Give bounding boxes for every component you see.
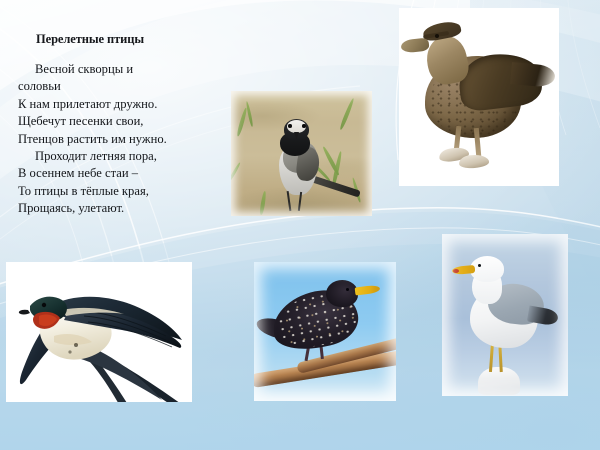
poem-line: Весной скворцы и	[18, 61, 243, 78]
swallow-photo-canvas	[6, 262, 192, 402]
poem-line: То птицы в тёплые края,	[18, 183, 243, 200]
duck-photo-canvas	[399, 8, 559, 186]
starling-beak-shape	[355, 285, 381, 296]
starling-photo-canvas	[254, 262, 396, 401]
barn-swallow-photo	[6, 262, 192, 402]
poem-line: Щебечут песенки свои,	[18, 113, 243, 130]
wagtail-eye-shape	[288, 124, 292, 128]
wagtail-photo-canvas	[231, 91, 372, 216]
white-wagtail-photo	[231, 91, 372, 216]
wagtail-eye-shape	[302, 124, 306, 128]
starling-head-shape	[326, 280, 358, 307]
poem-line: Проходит летняя пора,	[18, 148, 243, 165]
poem-line: Прощаясь, улетают.	[18, 200, 243, 217]
poem-line: К нам прилетают дружно.	[18, 96, 243, 113]
poem-block: Перелетные птицы Весной скворцы и соловь…	[18, 32, 243, 218]
common-starling-photo	[254, 262, 396, 401]
seagull-photo-canvas	[442, 234, 568, 396]
slide-canvas: Перелетные птицы Весной скворцы и соловь…	[0, 0, 600, 450]
duck-wingtip-shape	[510, 62, 556, 88]
mallard-duck-photo	[399, 8, 559, 186]
poem-line: В осеннем небе стаи –	[18, 165, 243, 182]
poem-line: соловьи	[18, 78, 243, 95]
poem-line: Птенцов растить им нужно.	[18, 131, 243, 148]
duck-foot-shape	[459, 154, 490, 169]
poem-title: Перелетные птицы	[36, 32, 243, 47]
seagull-head-shape	[470, 256, 504, 282]
seagull-beak-spot-shape	[453, 269, 459, 273]
poem-body: Весной скворцы и соловьи К нам прилетают…	[18, 61, 243, 218]
swallow-illustration	[6, 262, 192, 402]
seagull-photo	[442, 234, 568, 396]
